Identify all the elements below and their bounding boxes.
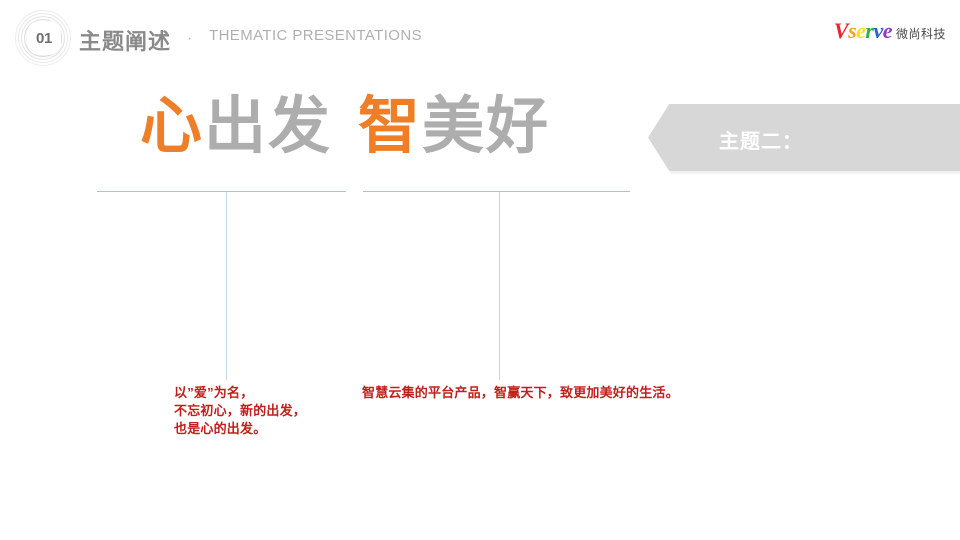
logo-name-cn: 微尚科技 [896, 25, 946, 42]
title-accent-2: 智 [358, 92, 422, 161]
header-title-cn: 主题阐述 [79, 24, 171, 56]
logo-letter-2: s [848, 18, 856, 43]
company-logo: Vserve 微尚科技 [834, 18, 946, 44]
header-separator-dot: · [187, 30, 192, 48]
body-text-right: 智慧云集的平台产品，智赢天下，致更加美好的生活。 [362, 384, 822, 402]
badge-chip: 01 [27, 21, 61, 55]
topic-banner: 主题二： [648, 104, 960, 171]
presentation-slide: 01 主题阐述 · THEMATIC PRESENTATIONS Vserve … [0, 0, 960, 540]
logo-letter-1: V [834, 18, 848, 43]
title-accent-1: 心 [140, 92, 204, 161]
connector-line-left [226, 192, 227, 380]
title-muted-1: 出发 [204, 92, 332, 161]
logo-letter-6: e [883, 18, 892, 43]
divider-line-left [97, 191, 346, 192]
title-muted-2: 美好 [422, 92, 550, 161]
logo-letter-5: v [873, 18, 882, 43]
header-title-en: THEMATIC PRESENTATIONS [209, 27, 422, 44]
banner-label: 主题二： [719, 125, 803, 154]
slide-header: 01 主题阐述 · THEMATIC PRESENTATIONS Vserve … [0, 0, 960, 74]
banner-chevron-shape [648, 104, 960, 171]
section-number-badge: 01 [14, 10, 76, 68]
logo-letter-3: e [856, 18, 865, 43]
divider-line-right [363, 191, 630, 192]
connector-line-right [499, 192, 500, 380]
page-title: 心出发智美好 [140, 96, 550, 158]
logo-wordmark: Vserve [834, 18, 892, 44]
body-text-left: 以”爱”为名， 不忘初心，新的出发， 也是心的出发。 [174, 384, 354, 438]
badge-number-label: 01 [36, 30, 52, 47]
